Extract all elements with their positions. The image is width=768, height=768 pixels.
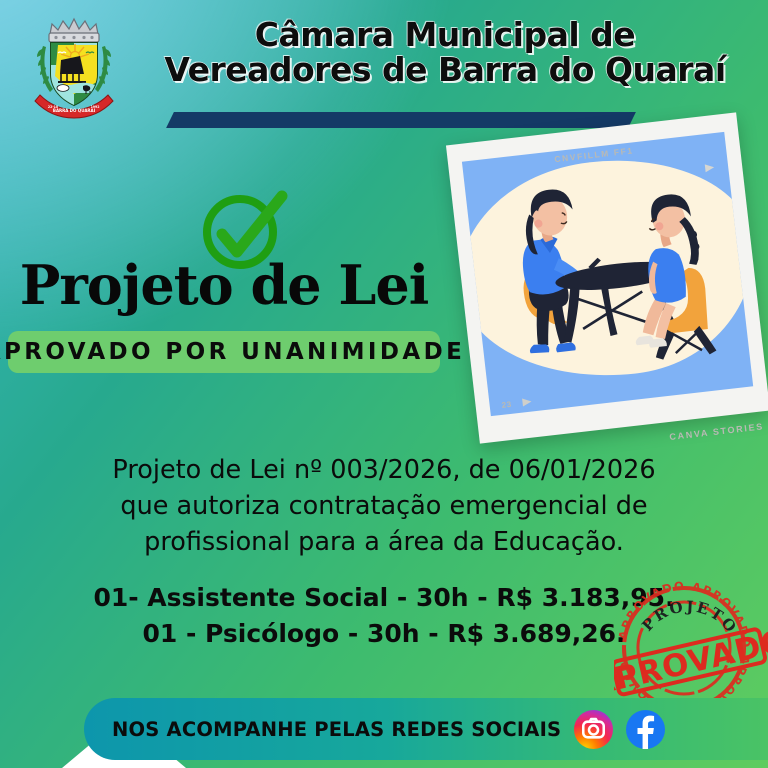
svg-text:22-10: 22-10 (48, 105, 59, 109)
frame-arrow-top-right-icon (705, 163, 715, 172)
svg-text:1992: 1992 (91, 105, 100, 109)
illustration-counseling (462, 132, 753, 416)
brasao-icon: BARRA DO QUARAI 22-10 1992 (28, 12, 120, 120)
body-line: que autoriza contratação emergencial de (0, 488, 768, 524)
navy-divider-bar (166, 112, 636, 128)
instagram-icon[interactable] (574, 710, 613, 749)
social-footer-label: NOS ACOMPANHE PELAS REDES SOCIAIS (112, 718, 561, 741)
frame-label-bottom: CANVA STORIES (669, 421, 764, 442)
photo-image: CNVFILLM FF1 23 (462, 132, 753, 416)
photo-frame: CNVFILLM FF1 23 CANVA STORIES (446, 112, 768, 443)
header-title-block: Câmara Municipal de Vereadores de Barra … (130, 18, 760, 88)
header: BARRA DO QUARAI 22-10 1992 Câmara Munici… (0, 0, 768, 135)
status-badge-label: APROVADO POR UNANIMIDADE (0, 339, 465, 365)
header-title-line-1: Câmara Municipal de (130, 18, 760, 53)
frame-label-number: 23 (501, 400, 512, 410)
social-footer-bar: NOS ACOMPANHE PELAS REDES SOCIAIS (84, 698, 768, 760)
body-text-block: Projeto de Lei nº 003/2026, de 06/01/202… (0, 452, 768, 561)
aprovado-stamp: APROVADO APROVADO APROVADO APROVADO PROJ… (614, 562, 768, 712)
facebook-icon[interactable] (626, 710, 665, 749)
status-badge: APROVADO POR UNANIMIDADE (8, 331, 440, 373)
frame-arrow-icon (522, 397, 532, 406)
body-line: Projeto de Lei nº 003/2026, de 06/01/202… (0, 452, 768, 488)
body-line: profissional para a área da Educação. (0, 524, 768, 560)
page-title: Projeto de Lei (0, 258, 448, 312)
header-title-line-2: Vereadores de Barra do Quaraí (130, 53, 760, 88)
crest-banner-text: BARRA DO QUARAI (53, 108, 96, 113)
stamp-center-main: APROVADO (614, 623, 768, 704)
